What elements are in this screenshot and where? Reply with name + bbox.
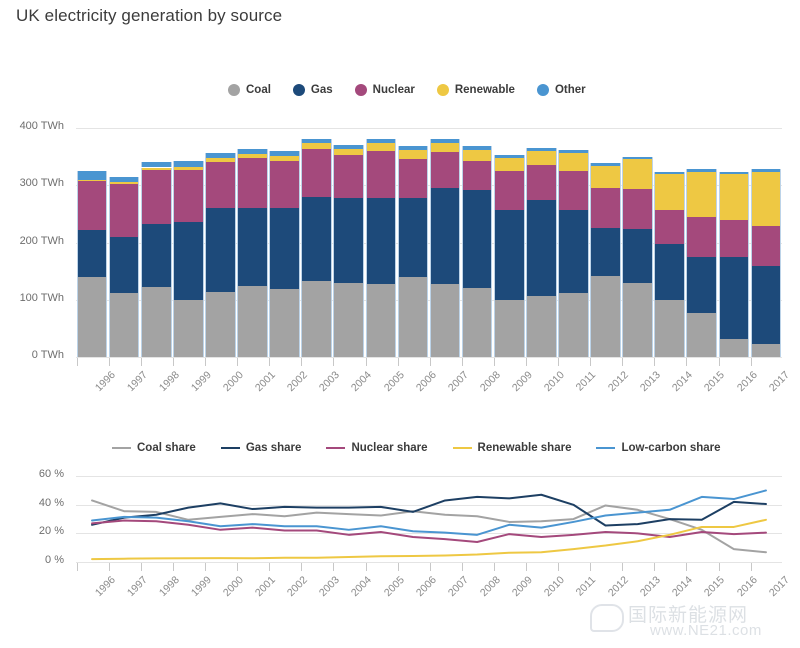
bar-segment[interactable]	[462, 146, 493, 149]
x-axis-tick-label: 2001	[253, 369, 278, 394]
bar-segment[interactable]	[173, 167, 204, 170]
bar-segment[interactable]	[719, 220, 750, 258]
bar-segment[interactable]	[333, 149, 364, 155]
legend-item-low-carbon-share[interactable]: Low-carbon share	[596, 442, 720, 454]
legend-item-label: Renewable share	[478, 442, 572, 454]
bar-segment[interactable]	[462, 190, 493, 287]
bar-segment[interactable]	[366, 198, 397, 283]
x-axis-tick-label: 2015	[702, 369, 727, 394]
x-axis-tick-label: 2008	[478, 369, 503, 394]
bar-segment[interactable]	[430, 143, 461, 152]
legend-item-label: Renewable	[455, 84, 515, 96]
bar-segment[interactable]	[333, 155, 364, 197]
x-axis-tick-label: 2002	[285, 369, 310, 394]
bar-segment[interactable]	[462, 161, 493, 191]
x-axis-tick	[398, 563, 399, 571]
line-swatch-icon	[453, 447, 472, 450]
x-axis-tick	[494, 358, 495, 366]
bar-segment[interactable]	[269, 289, 300, 357]
bar-segment[interactable]	[77, 180, 108, 181]
x-axis-tick	[590, 358, 591, 366]
bar-segment[interactable]	[77, 277, 108, 357]
bar-segment[interactable]	[398, 150, 429, 159]
bar-segment[interactable]	[430, 284, 461, 357]
x-axis-tick-label: 1997	[125, 369, 150, 394]
x-axis-tick-label: 1998	[157, 369, 182, 394]
bar-segment[interactable]	[590, 188, 621, 228]
circle-swatch-icon	[228, 84, 240, 96]
bar-segment[interactable]	[109, 293, 140, 357]
legend-item-label: Nuclear	[373, 84, 415, 96]
bar-segment[interactable]	[590, 166, 621, 188]
bar-segment[interactable]	[462, 150, 493, 161]
bar-segment[interactable]	[77, 230, 108, 277]
legend-item-label: Other	[555, 84, 586, 96]
wechat-icon	[590, 604, 624, 632]
bar-segment[interactable]	[751, 266, 782, 344]
x-axis-tick-label: 2007	[446, 369, 471, 394]
bar-segment[interactable]	[141, 170, 172, 224]
bar-segment[interactable]	[526, 165, 557, 200]
x-axis-tick	[526, 358, 527, 366]
x-axis-tick-label: 2010	[542, 369, 567, 394]
x-axis-tick	[558, 563, 559, 571]
bar-segment[interactable]	[430, 152, 461, 188]
legend-item-label: Coal share	[137, 442, 196, 454]
bar-segment[interactable]	[622, 159, 653, 188]
x-axis-tick	[237, 358, 238, 366]
bar-segment[interactable]	[590, 276, 621, 357]
x-axis-tick	[333, 563, 334, 571]
bar-segment[interactable]	[558, 150, 589, 153]
y-axis-tick-label: 400 TWh	[0, 120, 64, 132]
legend-generation-sources: CoalGasNuclearRenewableOther	[228, 84, 586, 96]
x-axis-tick-label: 2003	[317, 369, 342, 394]
x-axis-tick	[366, 563, 367, 571]
bar-segment[interactable]	[109, 177, 140, 183]
x-axis-tick	[526, 563, 527, 571]
bar-segment[interactable]	[141, 168, 172, 170]
legend-item-other[interactable]: Other	[537, 84, 586, 96]
x-axis-tick	[173, 358, 174, 366]
bar-segment[interactable]	[430, 188, 461, 284]
bar-segment[interactable]	[173, 161, 204, 167]
bar-segment[interactable]	[269, 161, 300, 208]
bar-segment[interactable]	[526, 296, 557, 357]
bar-segment[interactable]	[205, 162, 236, 208]
x-axis-tick	[269, 563, 270, 571]
x-axis-tick	[366, 358, 367, 366]
line-swatch-icon	[596, 447, 615, 450]
bar-segment[interactable]	[751, 344, 782, 357]
bar-segment[interactable]	[590, 228, 621, 276]
x-axis-tick	[77, 358, 78, 366]
x-axis-tick	[590, 563, 591, 571]
x-axis-tick	[751, 563, 752, 571]
bar-segment[interactable]	[141, 287, 172, 357]
x-axis-tick	[654, 358, 655, 366]
bar-segment[interactable]	[237, 286, 268, 357]
bar-segment[interactable]	[494, 300, 525, 357]
x-axis-tick	[686, 358, 687, 366]
bar-segment[interactable]	[333, 198, 364, 283]
x-axis-tick	[686, 563, 687, 571]
x-axis-tick-label: 2004	[349, 369, 374, 394]
bar-segment[interactable]	[558, 210, 589, 293]
bar-segment[interactable]	[526, 200, 557, 296]
bar-segment[interactable]	[237, 154, 268, 157]
x-axis-tick	[333, 358, 334, 366]
bar-segment[interactable]	[366, 284, 397, 357]
legend-item-gas[interactable]: Gas	[293, 84, 333, 96]
bar-segment[interactable]	[109, 182, 140, 184]
bar-segment[interactable]	[269, 156, 300, 161]
bar-segment[interactable]	[751, 172, 782, 226]
x-axis-tick-label: 2005	[381, 369, 406, 394]
bar-segment[interactable]	[558, 293, 589, 357]
bar-segment[interactable]	[494, 155, 525, 158]
legend-item-label: Gas share	[246, 442, 302, 454]
bar-segment[interactable]	[654, 210, 685, 243]
bar-segment[interactable]	[301, 143, 332, 148]
circle-swatch-icon	[437, 84, 449, 96]
bar-segment[interactable]	[398, 277, 429, 357]
bar-segment[interactable]	[366, 143, 397, 151]
bar-segment[interactable]	[269, 151, 300, 156]
x-axis-tick-label: 2012	[606, 369, 631, 394]
bar-segment[interactable]	[719, 257, 750, 339]
x-axis-tick-label: 2016	[734, 369, 759, 394]
bar-segment[interactable]	[301, 281, 332, 357]
bar-segment[interactable]	[398, 146, 429, 150]
x-axis-tick	[462, 358, 463, 366]
x-axis-tick-label: 2013	[638, 369, 663, 394]
bar-segment[interactable]	[590, 163, 621, 166]
bar-segment[interactable]	[622, 157, 653, 159]
bar-segment[interactable]	[205, 208, 236, 293]
bar-segment[interactable]	[654, 244, 685, 301]
bar-segment[interactable]	[237, 158, 268, 208]
bar-segment[interactable]	[654, 300, 685, 357]
bar-segment[interactable]	[558, 153, 589, 171]
circle-swatch-icon	[537, 84, 549, 96]
y-axis-tick-label: 100 TWh	[0, 292, 64, 304]
x-axis-tick-label: 2014	[670, 369, 695, 394]
x-axis-tick	[654, 563, 655, 571]
bar-segment[interactable]	[366, 139, 397, 143]
x-axis-tick	[77, 563, 78, 571]
bar-segment[interactable]	[205, 158, 236, 161]
bar-segment[interactable]	[141, 162, 172, 168]
bar-segment[interactable]	[494, 171, 525, 211]
x-axis-tick	[269, 358, 270, 366]
bar-segment[interactable]	[301, 139, 332, 144]
bar-segment[interactable]	[686, 257, 717, 313]
x-axis-tick-label: 1996	[93, 369, 118, 394]
circle-swatch-icon	[293, 84, 305, 96]
line-swatch-icon	[112, 447, 131, 450]
bar-segment[interactable]	[301, 149, 332, 198]
generation-share-line-chart: 0 %20 %40 %60 %1996199719981999200020012…	[0, 455, 800, 605]
bar-segment[interactable]	[301, 197, 332, 281]
x-axis-tick	[398, 358, 399, 366]
x-axis-tick-label: 2011	[574, 369, 598, 393]
bar-segment[interactable]	[398, 159, 429, 199]
bar-segment[interactable]	[686, 313, 717, 357]
x-axis-tick	[205, 563, 206, 571]
x-axis-tick	[301, 358, 302, 366]
x-axis-tick	[141, 563, 142, 571]
x-axis-tick	[205, 358, 206, 366]
bar-segment[interactable]	[141, 224, 172, 286]
legend-item-label: Nuclear share	[351, 442, 427, 454]
legend-item-nuclear-share[interactable]: Nuclear share	[326, 442, 427, 454]
bar-segment[interactable]	[494, 158, 525, 171]
bar-segment[interactable]	[77, 181, 108, 230]
x-axis-tick-label: 2017	[766, 369, 791, 394]
x-axis-tick	[622, 358, 623, 366]
bar-segment[interactable]	[205, 153, 236, 159]
y-axis-tick-label: 300 TWh	[0, 177, 64, 189]
bar-segment[interactable]	[622, 229, 653, 282]
x-axis-tick	[141, 358, 142, 366]
bar-segment[interactable]	[686, 169, 717, 171]
bar-segment[interactable]	[719, 172, 750, 174]
x-axis-tick	[558, 358, 559, 366]
bar-segment[interactable]	[719, 174, 750, 220]
bar-segment[interactable]	[526, 148, 557, 151]
bar-segment[interactable]	[109, 184, 140, 237]
y-axis-tick-label: 0 TWh	[0, 349, 64, 361]
x-axis-tick	[622, 563, 623, 571]
x-axis-tick	[719, 358, 720, 366]
site-watermark: 国际新能源网 www.NE21.com	[588, 600, 798, 644]
bar-segment[interactable]	[366, 151, 397, 198]
watermark-url: www.NE21.com	[650, 622, 762, 639]
bar-segment[interactable]	[173, 170, 204, 223]
generation-stacked-bar-chart: 0 TWh100 TWh200 TWh300 TWh400 TWh1996199…	[0, 110, 800, 410]
bar-segment[interactable]	[333, 283, 364, 357]
x-axis-tick	[719, 563, 720, 571]
bar-segment[interactable]	[494, 210, 525, 300]
bar-segment[interactable]	[558, 171, 589, 211]
x-axis-tick-label: 1999	[189, 369, 214, 394]
page-title: UK electricity generation by source	[16, 6, 282, 26]
x-axis-tick	[301, 563, 302, 571]
y-axis-tick-label: 200 TWh	[0, 235, 64, 247]
bar-segment[interactable]	[269, 208, 300, 289]
x-axis-tick	[430, 563, 431, 571]
bar-segment[interactable]	[622, 189, 653, 230]
bar-segment[interactable]	[109, 237, 140, 293]
bar-segment[interactable]	[526, 151, 557, 165]
x-axis-tick-label: 2009	[510, 369, 535, 394]
bar-segment[interactable]	[462, 288, 493, 357]
bar-segment[interactable]	[205, 292, 236, 357]
bar-segment[interactable]	[237, 149, 268, 154]
bar-segment[interactable]	[333, 145, 364, 150]
gridline	[76, 128, 782, 129]
x-axis-tick	[109, 358, 110, 366]
legend-item-coal-share[interactable]: Coal share	[112, 442, 196, 454]
bar-segment[interactable]	[654, 174, 685, 210]
bar-segment[interactable]	[686, 172, 717, 218]
bar-segment[interactable]	[719, 339, 750, 357]
x-axis-tick	[751, 358, 752, 366]
bar-segment[interactable]	[430, 139, 461, 143]
bar-segment[interactable]	[751, 169, 782, 171]
x-axis-tick-label: 2000	[221, 369, 246, 394]
bar-segment[interactable]	[173, 222, 204, 299]
legend-share-series: Coal shareGas shareNuclear shareRenewabl…	[112, 442, 721, 454]
x-axis-tick	[494, 563, 495, 571]
bar-segment[interactable]	[173, 300, 204, 357]
legend-item-label: Low-carbon share	[621, 442, 720, 454]
bar-segment[interactable]	[654, 172, 685, 174]
legend-item-label: Coal	[246, 84, 271, 96]
bar-segment[interactable]	[77, 171, 108, 180]
legend-item-label: Gas	[311, 84, 333, 96]
x-axis-tick	[462, 563, 463, 571]
x-axis-tick	[173, 563, 174, 571]
line-swatch-icon	[326, 447, 345, 450]
bar-segment[interactable]	[622, 283, 653, 357]
bar-segment[interactable]	[398, 198, 429, 276]
x-axis-tick	[109, 563, 110, 571]
x-axis-tick	[430, 358, 431, 366]
legend-item-renewable-share[interactable]: Renewable share	[453, 442, 572, 454]
bar-segment[interactable]	[751, 226, 782, 266]
line-swatch-icon	[221, 447, 240, 450]
legend-item-coal[interactable]: Coal	[228, 84, 271, 96]
legend-item-gas-share[interactable]: Gas share	[221, 442, 302, 454]
bar-segment[interactable]	[237, 208, 268, 286]
legend-item-renewable[interactable]: Renewable	[437, 84, 515, 96]
legend-item-nuclear[interactable]: Nuclear	[355, 84, 415, 96]
x-axis-tick	[237, 563, 238, 571]
circle-swatch-icon	[355, 84, 367, 96]
x-axis-tick-label: 2006	[413, 369, 438, 394]
bar-segment[interactable]	[686, 217, 717, 257]
